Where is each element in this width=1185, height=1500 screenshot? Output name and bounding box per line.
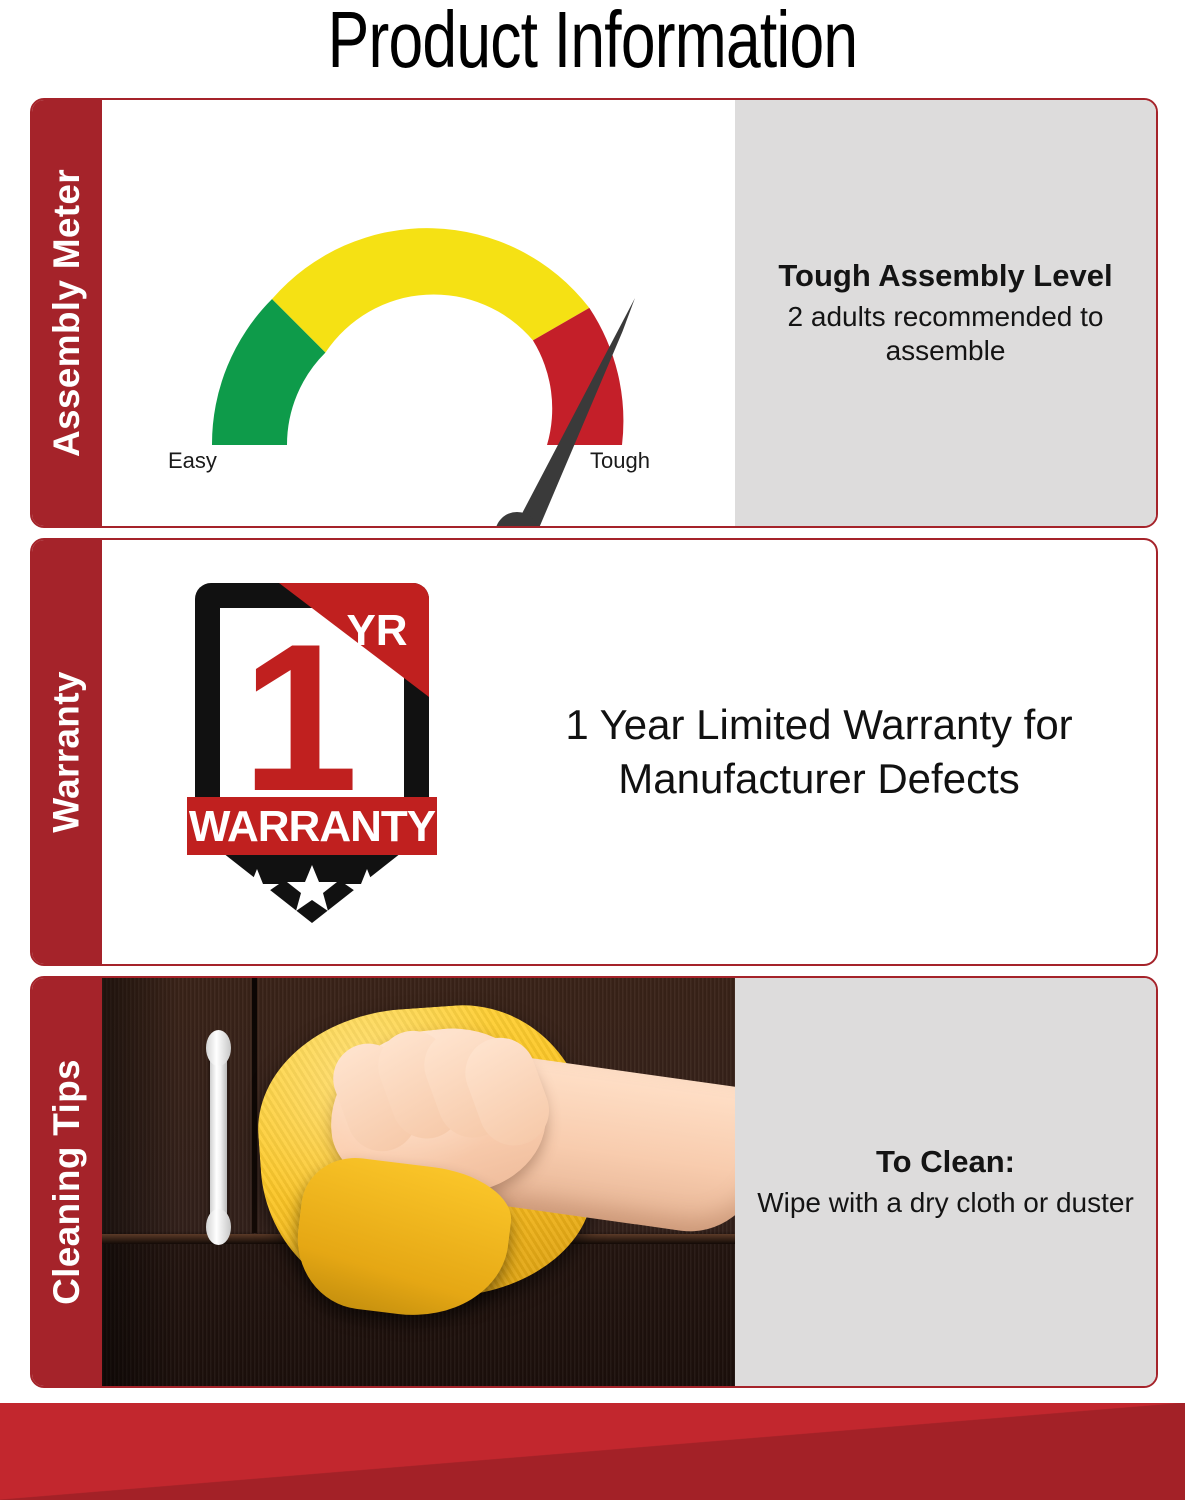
cabinet-seam (252, 978, 257, 1233)
assembly-gauge: Easy Tough (102, 100, 735, 526)
cleaning-photo-image (102, 978, 735, 1386)
card-warranty: Warranty YR 1 WARRANTY (30, 538, 1158, 966)
assembly-heading: Tough Assembly Level (778, 258, 1112, 295)
card-cleaning-tips: Cleaning Tips (30, 976, 1158, 1388)
gauge-zone-medium (272, 228, 589, 352)
sidebar-tab-label-warranty: Warranty (46, 671, 88, 832)
warranty-banner-text: WARRANTY (189, 802, 436, 851)
cleaning-text-panel: To Clean: Wipe with a dry cloth or duste… (735, 978, 1156, 1386)
sidebar-tab-label-assembly: Assembly Meter (46, 169, 88, 457)
assembly-gauge-panel: Easy Tough (102, 100, 735, 526)
card-body-cleaning: To Clean: Wipe with a dry cloth or duste… (102, 978, 1156, 1386)
page-title: Product Information (130, 0, 1054, 82)
warranty-badge-panel: YR 1 WARRANTY (102, 575, 522, 930)
sidebar-tab-label-cleaning: Cleaning Tips (46, 1059, 88, 1305)
warranty-text: 1 Year Limited Warranty for Manufacturer… (522, 698, 1156, 806)
cabinet-handle (210, 1040, 227, 1235)
card-body-warranty: YR 1 WARRANTY 1 Year Limited Warranty fo… (102, 540, 1156, 964)
sidebar-tab-cleaning-tips: Cleaning Tips (32, 978, 102, 1386)
cleaning-subtext: Wipe with a dry cloth or duster (757, 1186, 1134, 1220)
gauge-label-tough: Tough (590, 448, 650, 474)
warranty-badge-icon: YR 1 WARRANTY (187, 575, 437, 930)
sidebar-tab-warranty: Warranty (32, 540, 102, 964)
assembly-text-panel: Tough Assembly Level 2 adults recommende… (735, 100, 1156, 526)
gauge-label-easy: Easy (168, 448, 217, 474)
bottom-banner (0, 1403, 1185, 1500)
assembly-subtext: 2 adults recommended to assemble (757, 300, 1134, 368)
bottom-banner-stripe (0, 1403, 1185, 1500)
cleaning-heading: To Clean: (876, 1144, 1015, 1181)
card-assembly-meter: Assembly Meter (30, 98, 1158, 528)
cleaning-photo-panel (102, 978, 735, 1386)
card-body-assembly: Easy Tough Tough Assembly Level 2 adults… (102, 100, 1156, 526)
product-information-page: Product Information Assembly Meter (0, 0, 1185, 1500)
sidebar-tab-assembly-meter: Assembly Meter (32, 100, 102, 526)
